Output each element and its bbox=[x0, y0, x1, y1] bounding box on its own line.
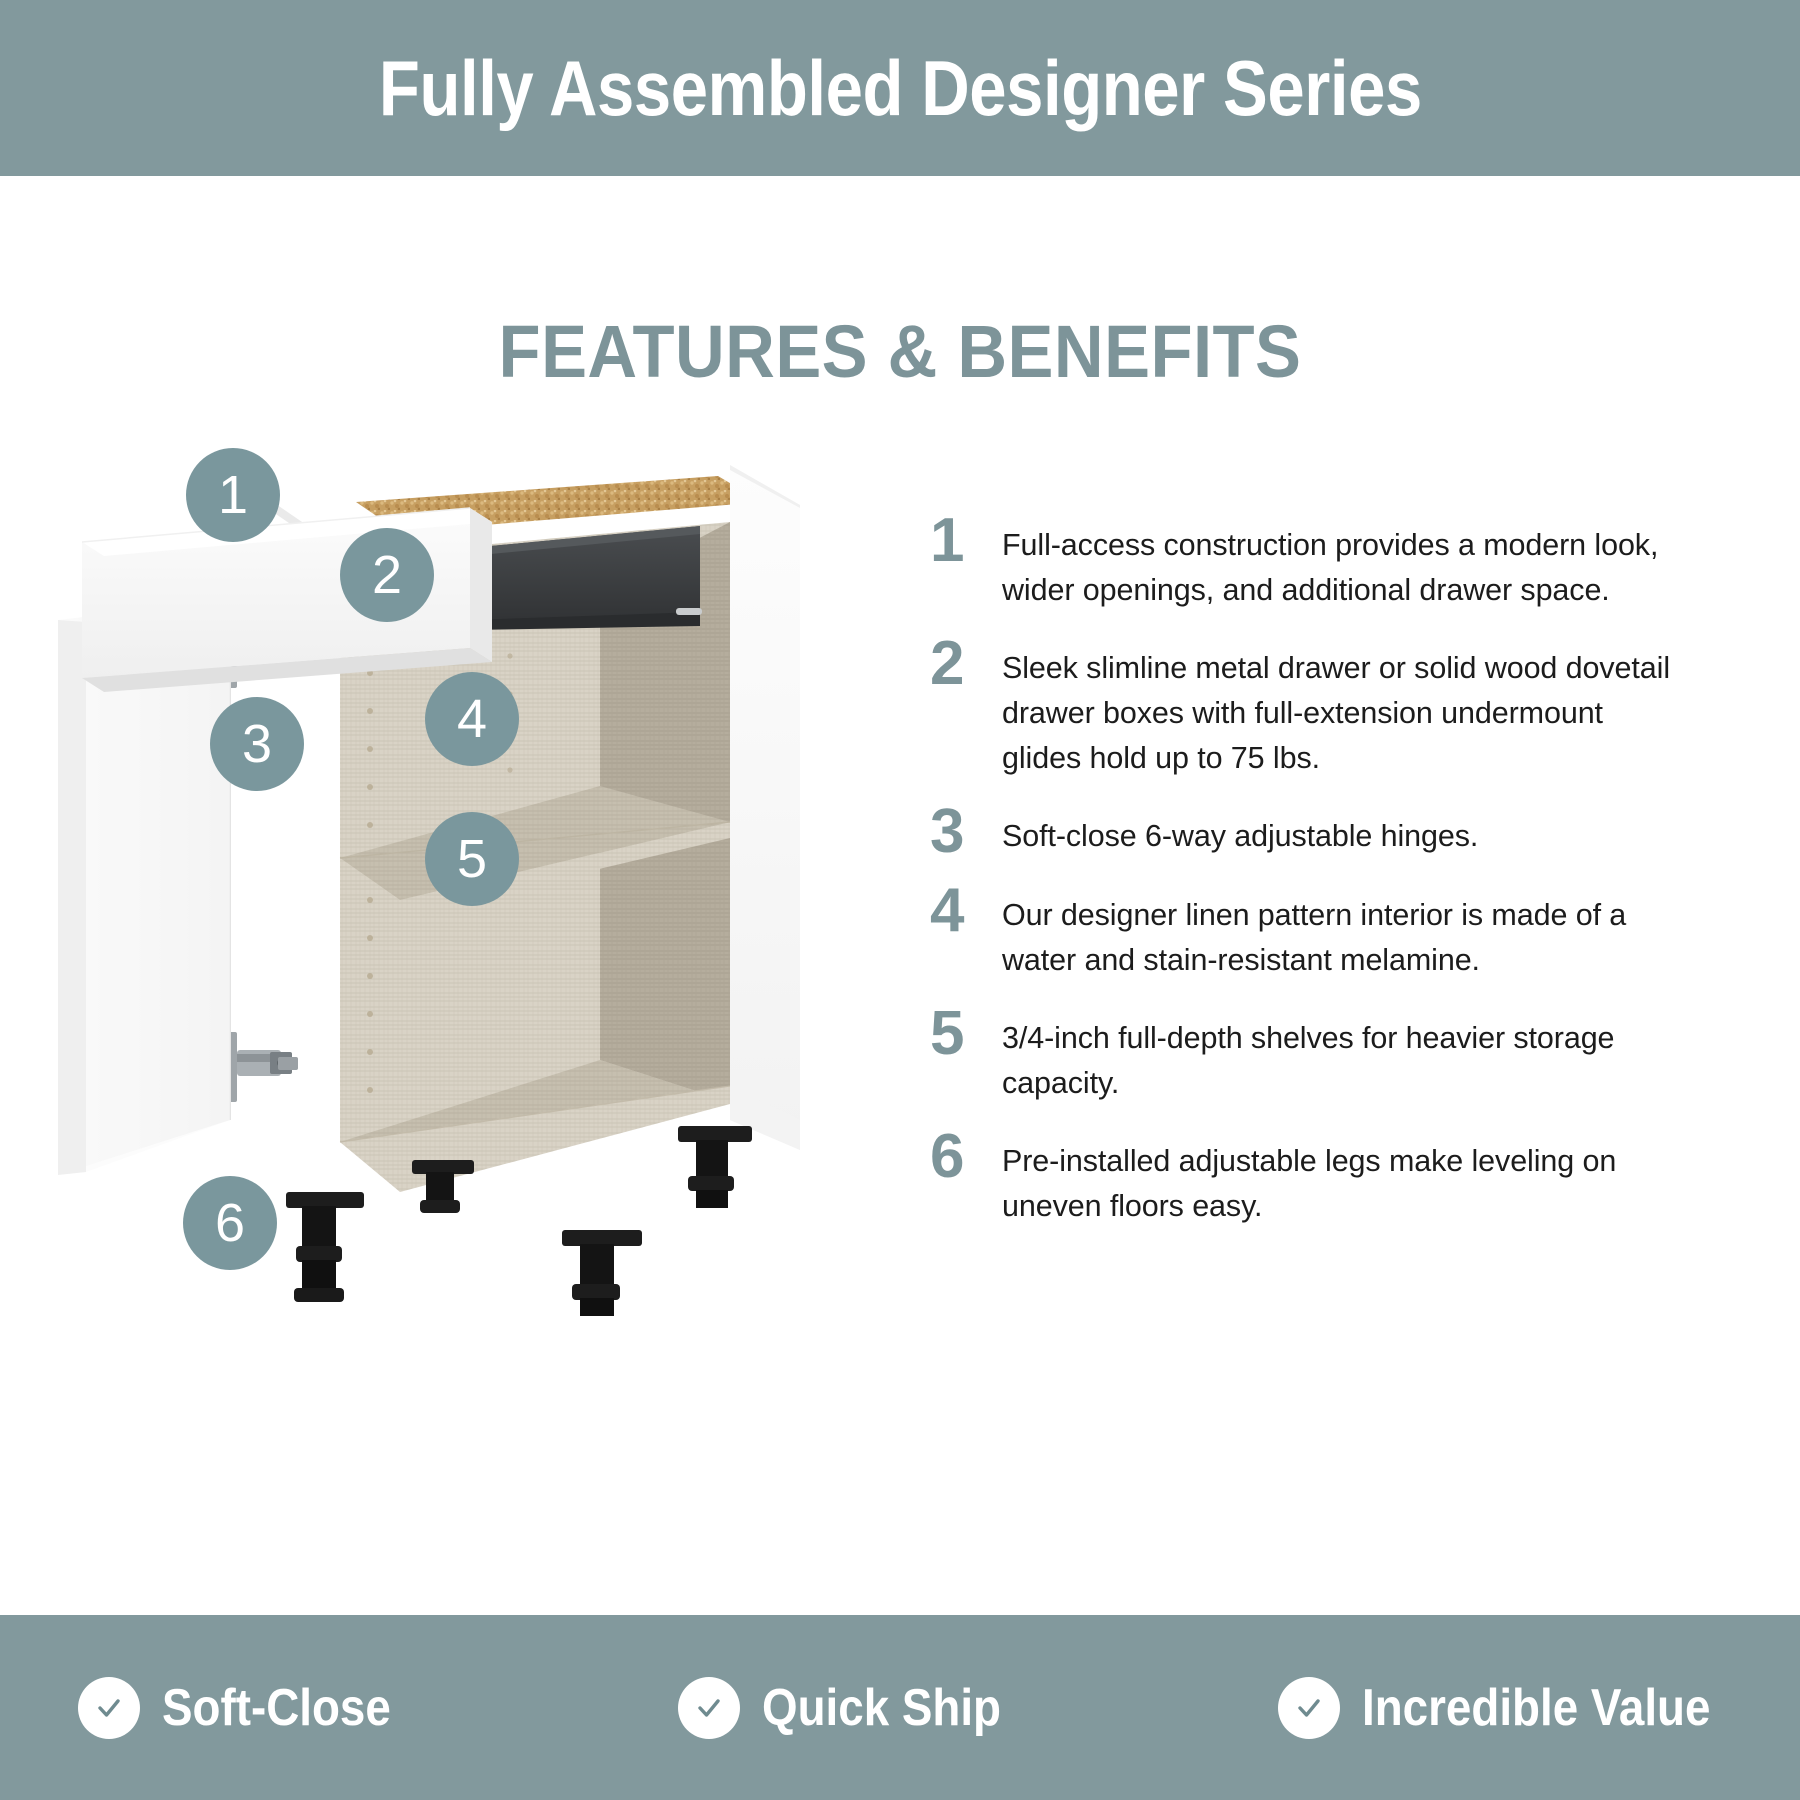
feature-text-2: Sleek slimline metal drawer or solid woo… bbox=[1002, 633, 1690, 781]
callout-4[interactable]: 4 bbox=[425, 672, 519, 766]
feature-item-1: 1 Full-access construction provides a mo… bbox=[930, 510, 1690, 613]
feature-number-5: 5 bbox=[930, 1003, 1002, 1062]
feature-text-3: Soft-close 6-way adjustable hinges. bbox=[1002, 801, 1690, 859]
footer-label-soft-close: Soft-Close bbox=[162, 1682, 391, 1734]
check-circle-icon bbox=[78, 1677, 140, 1739]
page-footer: Soft-Close Quick Ship Incredible Value bbox=[0, 1615, 1800, 1800]
feature-text-4: Our designer linen pattern interior is m… bbox=[1002, 880, 1690, 983]
page-header: Fully Assembled Designer Series bbox=[0, 0, 1800, 176]
feature-text-5: 3/4-inch full-depth shelves for heavier … bbox=[1002, 1003, 1690, 1106]
feature-number-3: 3 bbox=[930, 801, 1002, 860]
check-circle-icon bbox=[1278, 1677, 1340, 1739]
feature-number-1: 1 bbox=[930, 510, 1002, 569]
feature-item-2: 2 Sleek slimline metal drawer or solid w… bbox=[930, 633, 1690, 781]
footer-badge-incredible-value: Incredible Value bbox=[1200, 1677, 1800, 1739]
section-heading: FEATURES & BENEFITS bbox=[63, 315, 1737, 389]
footer-label-incredible-value: Incredible Value bbox=[1362, 1682, 1710, 1734]
footer-badge-soft-close: Soft-Close bbox=[0, 1677, 600, 1739]
cabinet-right-side-panel bbox=[730, 465, 800, 1150]
feature-item-6: 6 Pre-installed adjustable legs make lev… bbox=[930, 1126, 1690, 1229]
callout-1[interactable]: 1 bbox=[186, 448, 280, 542]
soft-close-hinge bbox=[225, 618, 298, 1102]
feature-item-3: 3 Soft-close 6-way adjustable hinges. bbox=[930, 801, 1690, 860]
check-circle-icon bbox=[678, 1677, 740, 1739]
feature-number-4: 4 bbox=[930, 880, 1002, 939]
callout-6[interactable]: 6 bbox=[183, 1176, 277, 1270]
feature-number-6: 6 bbox=[930, 1126, 1002, 1185]
feature-text-6: Pre-installed adjustable legs make level… bbox=[1002, 1126, 1690, 1229]
feature-item-4: 4 Our designer linen pattern interior is… bbox=[930, 880, 1690, 983]
feature-text-1: Full-access construction provides a mode… bbox=[1002, 510, 1690, 613]
feature-number-2: 2 bbox=[930, 633, 1002, 692]
callout-2[interactable]: 2 bbox=[340, 528, 434, 622]
footer-label-quick-ship: Quick Ship bbox=[762, 1682, 1001, 1734]
page-title: Fully Assembled Designer Series bbox=[379, 49, 1422, 127]
footer-badge-quick-ship: Quick Ship bbox=[600, 1677, 1200, 1739]
drawer-front bbox=[82, 508, 492, 692]
callout-3[interactable]: 3 bbox=[210, 697, 304, 791]
features-list: 1 Full-access construction provides a mo… bbox=[930, 510, 1690, 1249]
feature-item-5: 5 3/4-inch full-depth shelves for heavie… bbox=[930, 1003, 1690, 1106]
callout-5[interactable]: 5 bbox=[425, 812, 519, 906]
